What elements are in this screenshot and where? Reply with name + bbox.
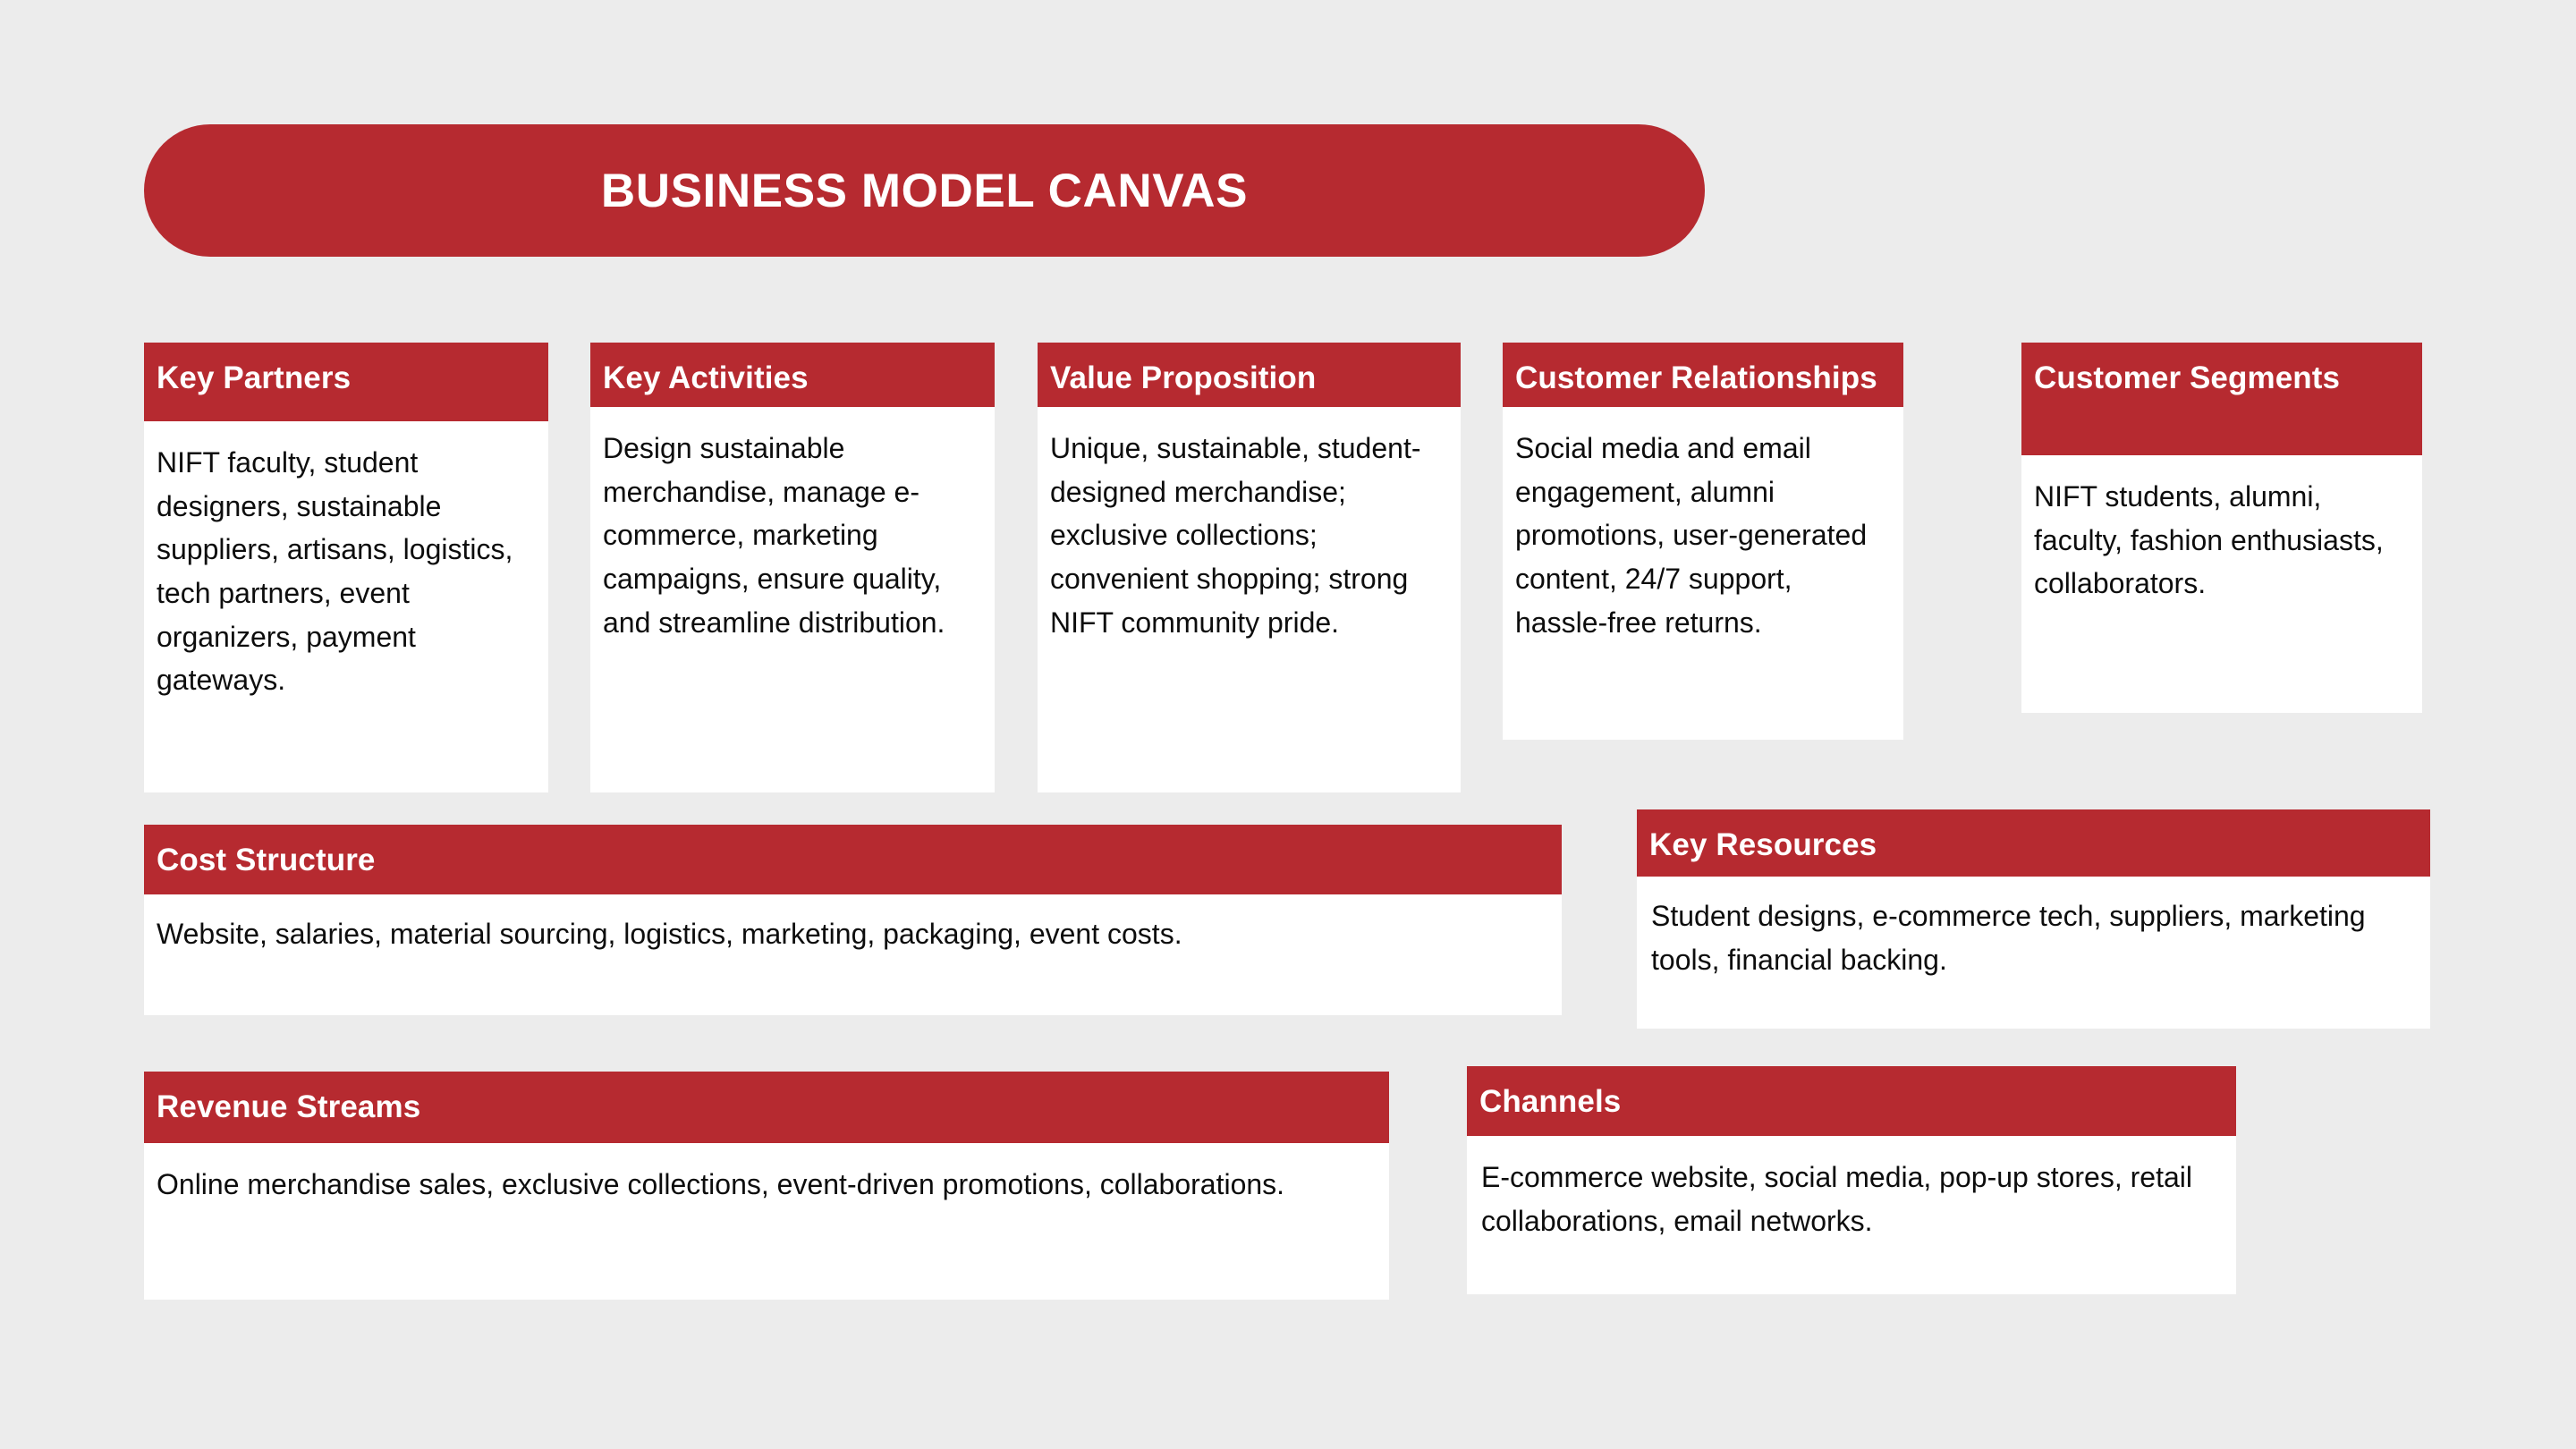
block-customer-segments: Customer Segments NIFT students, alumni,… bbox=[2021, 343, 2422, 713]
block-cost-structure-title: Cost Structure bbox=[157, 843, 1549, 878]
canvas-title-banner: BUSINESS MODEL CANVAS bbox=[144, 124, 1705, 257]
block-cost-structure-header: Cost Structure bbox=[144, 825, 1562, 894]
block-channels-text: E-commerce website, social media, pop-up… bbox=[1481, 1156, 2224, 1242]
block-key-activities-body: Design sustainable merchandise, manage e… bbox=[590, 407, 995, 657]
block-customer-relationships: Customer Relationships Social media and … bbox=[1503, 343, 1903, 740]
business-model-canvas-diagram: BUSINESS MODEL CANVAS Key Partners NIFT … bbox=[0, 0, 2576, 1449]
block-cost-structure-text: Website, salaries, material sourcing, lo… bbox=[157, 912, 1549, 956]
block-key-partners-title: Key Partners bbox=[157, 360, 536, 396]
canvas-title: BUSINESS MODEL CANVAS bbox=[601, 167, 1248, 215]
block-customer-segments-title: Customer Segments bbox=[2034, 360, 2410, 396]
block-key-partners-body: NIFT faculty, student designers, sustain… bbox=[144, 421, 548, 715]
block-key-activities-title: Key Activities bbox=[603, 360, 982, 396]
block-key-activities-header: Key Activities bbox=[590, 343, 995, 407]
block-revenue-streams-title: Revenue Streams bbox=[157, 1089, 1377, 1125]
block-value-proposition: Value Proposition Unique, sustainable, s… bbox=[1038, 343, 1461, 792]
block-channels-header: Channels bbox=[1467, 1066, 2236, 1136]
block-key-resources-title: Key Resources bbox=[1649, 827, 2418, 863]
block-key-resources-text: Student designs, e-commerce tech, suppli… bbox=[1651, 894, 2418, 981]
block-value-proposition-title: Value Proposition bbox=[1050, 360, 1448, 396]
block-key-resources: Key Resources Student designs, e-commerc… bbox=[1637, 809, 2430, 1029]
block-key-resources-body: Student designs, e-commerce tech, suppli… bbox=[1637, 877, 2430, 994]
block-cost-structure-body: Website, salaries, material sourcing, lo… bbox=[144, 894, 1562, 969]
block-customer-relationships-text: Social media and email engagement, alumn… bbox=[1515, 427, 1891, 644]
block-revenue-streams: Revenue Streams Online merchandise sales… bbox=[144, 1072, 1389, 1300]
block-value-proposition-body: Unique, sustainable, student-designed me… bbox=[1038, 407, 1461, 657]
block-key-activities: Key Activities Design sustainable mercha… bbox=[590, 343, 995, 792]
block-revenue-streams-header: Revenue Streams bbox=[144, 1072, 1389, 1143]
block-customer-relationships-title: Customer Relationships bbox=[1515, 360, 1891, 396]
block-channels-title: Channels bbox=[1479, 1084, 2224, 1120]
block-value-proposition-header: Value Proposition bbox=[1038, 343, 1461, 407]
block-customer-segments-header: Customer Segments bbox=[2021, 343, 2422, 455]
block-key-resources-header: Key Resources bbox=[1637, 809, 2430, 877]
block-key-partners-header: Key Partners bbox=[144, 343, 548, 421]
block-customer-relationships-body: Social media and email engagement, alumn… bbox=[1503, 407, 1903, 657]
block-value-proposition-text: Unique, sustainable, student-designed me… bbox=[1050, 427, 1448, 644]
block-channels-body: E-commerce website, social media, pop-up… bbox=[1467, 1136, 2236, 1255]
block-cost-structure: Cost Structure Website, salaries, materi… bbox=[144, 825, 1562, 1015]
block-key-activities-text: Design sustainable merchandise, manage e… bbox=[603, 427, 982, 644]
block-revenue-streams-body: Online merchandise sales, exclusive coll… bbox=[144, 1143, 1389, 1219]
block-customer-segments-body: NIFT students, alumni, faculty, fashion … bbox=[2021, 455, 2422, 618]
block-customer-segments-text: NIFT students, alumni, faculty, fashion … bbox=[2034, 475, 2410, 606]
block-key-partners-text: NIFT faculty, student designers, sustain… bbox=[157, 441, 536, 702]
block-customer-relationships-header: Customer Relationships bbox=[1503, 343, 1903, 407]
block-key-partners: Key Partners NIFT faculty, student desig… bbox=[144, 343, 548, 792]
block-revenue-streams-text: Online merchandise sales, exclusive coll… bbox=[157, 1163, 1377, 1207]
block-channels: Channels E-commerce website, social medi… bbox=[1467, 1066, 2236, 1294]
